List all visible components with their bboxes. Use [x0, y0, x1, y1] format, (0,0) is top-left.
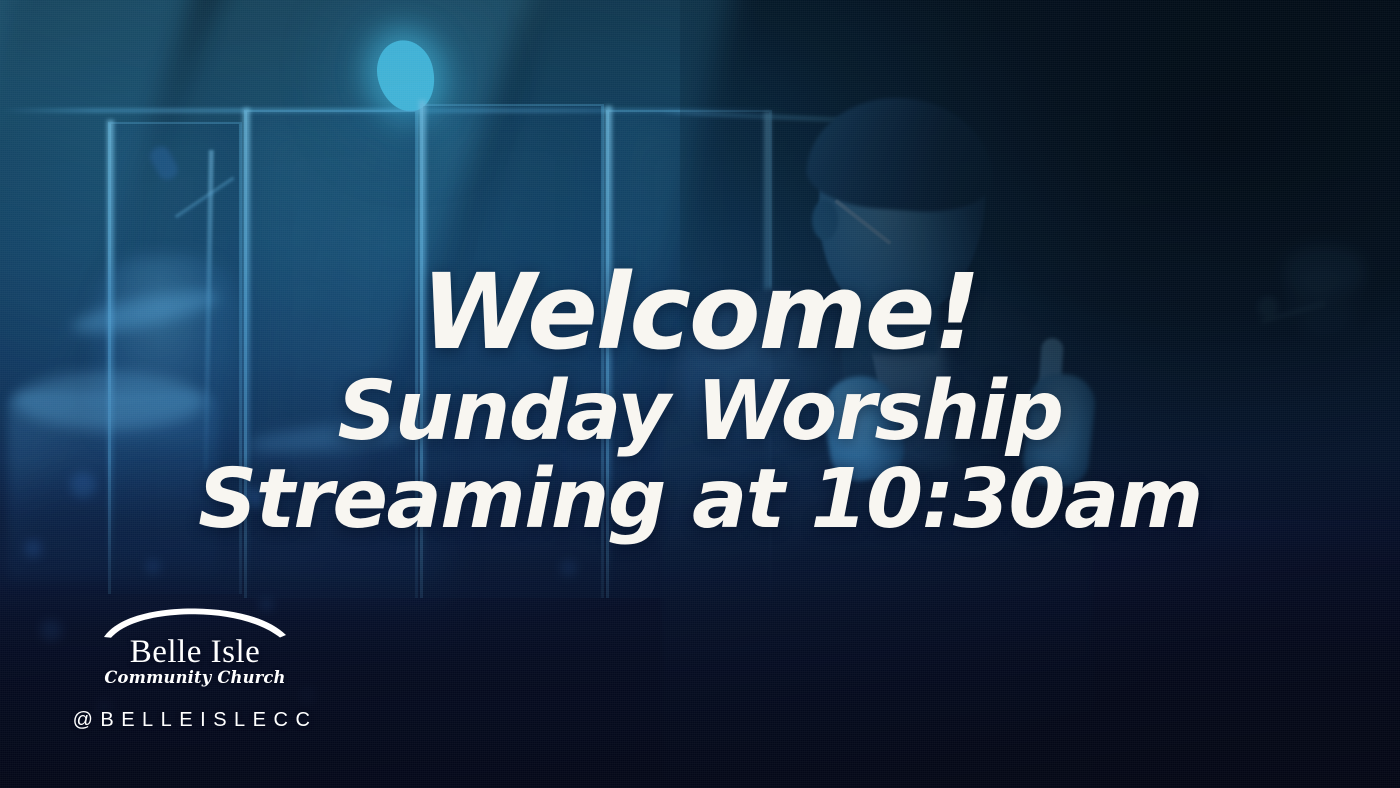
church-logo-lockup: Belle Isle Community Church @BELLEISLECC — [70, 608, 320, 732]
logo-arc-icon — [100, 608, 290, 638]
social-handle: @BELLEISLECC — [70, 709, 320, 732]
welcome-slide: Welcome! Sunday Worship Streaming at 10:… — [0, 0, 1400, 788]
logo-subtitle: Community Church — [75, 670, 315, 687]
logo-wordmark: Belle Isle — [70, 636, 320, 669]
